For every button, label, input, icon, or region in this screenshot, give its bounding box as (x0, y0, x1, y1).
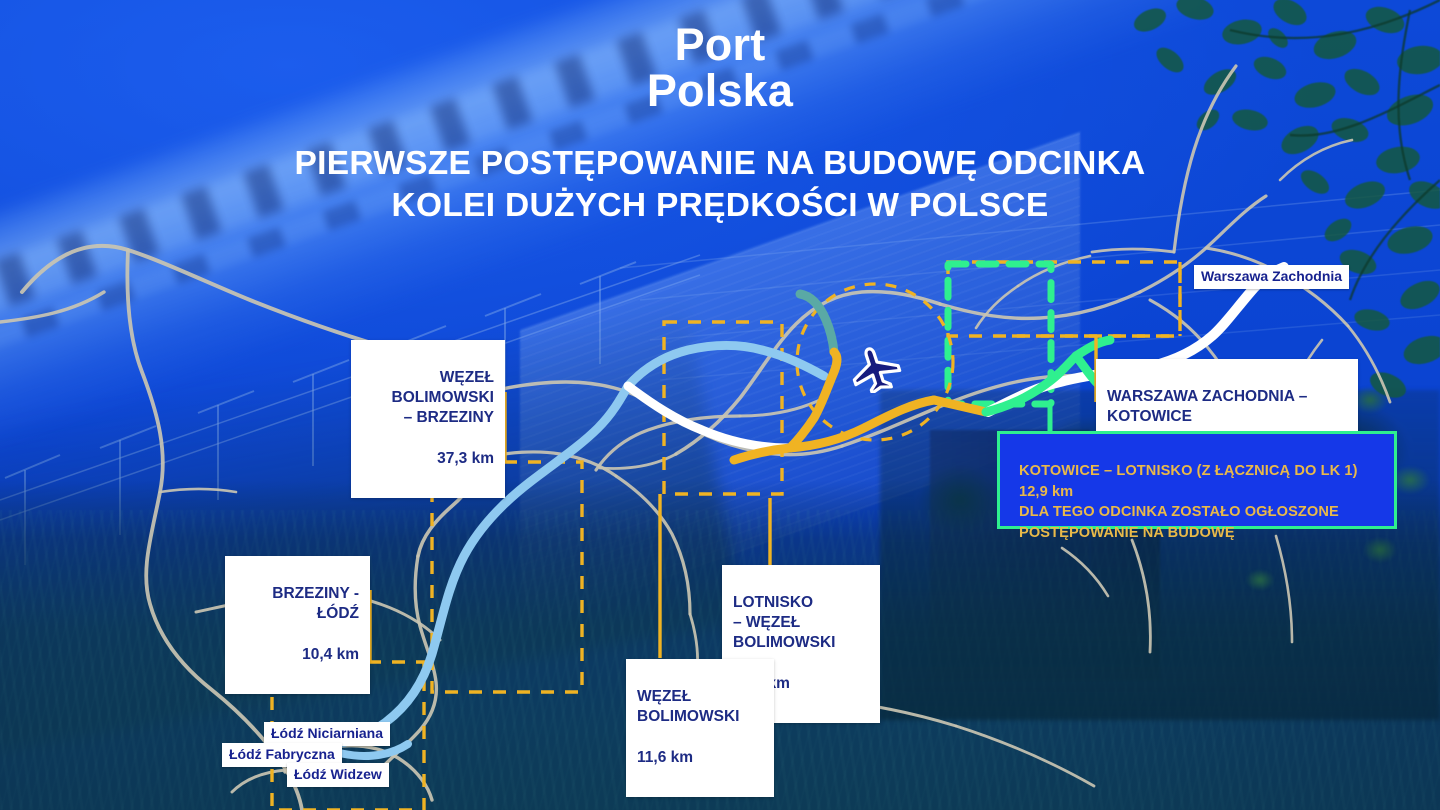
highlight-text: KOTOWICE – LOTNISKO (Z ŁĄCZNICĄ DO LK 1)… (1019, 461, 1382, 544)
callout-title: WARSZAWA ZACHODNIA – KOTOWICE (1107, 387, 1347, 427)
callout-distance: 37,3 km (362, 449, 494, 469)
brand-line-1: Port (0, 22, 1440, 68)
callout-title: WĘZEŁ BOLIMOWSKI – BRZEZINY (362, 368, 494, 428)
callout-brzeziny-lodz: BRZEZINY - ŁÓDŹ 10,4 km (225, 556, 370, 694)
callout-distance: 10,4 km (236, 645, 359, 665)
callout-distance: 11,6 km (637, 748, 763, 768)
highlight-box-kotowice-lotnisko: KOTOWICE – LOTNISKO (Z ŁĄCZNICĄ DO LK 1)… (997, 431, 1397, 529)
station-name: Łódź Niciarniana (271, 725, 383, 741)
callout-title: WĘZEŁ BOLIMOWSKI (637, 687, 763, 727)
route-teal-link (800, 294, 834, 352)
infographic-slide: Port Polska PIERWSZE POSTĘPOWANIE NA BUD… (0, 0, 1440, 810)
airplane-icon (846, 345, 904, 393)
subtitle-line-2: KOLEI DUŻYCH PRĘDKOŚCI W POLSCE (0, 185, 1440, 227)
callout-wezel-bolimowski: WĘZEŁ BOLIMOWSKI 11,6 km (626, 659, 774, 797)
callout-title: LOTNISKO – WĘZEŁ BOLIMOWSKI (733, 593, 869, 653)
station-name: Warszawa Zachodnia (1201, 268, 1342, 284)
page-subtitle: PIERWSZE POSTĘPOWANIE NA BUDOWĘ ODCINKA … (0, 143, 1440, 227)
station-name: Łódź Fabryczna (229, 746, 335, 762)
brand-title: Port Polska (0, 22, 1440, 115)
station-name: Łódź Widzew (294, 766, 382, 782)
station-label-lodz-widzew: Łódź Widzew (287, 763, 389, 787)
subtitle-line-1: PIERWSZE POSTĘPOWANIE NA BUDOWĘ ODCINKA (0, 143, 1440, 185)
callout-wezel-bolimowski-brzeziny: WĘZEŁ BOLIMOWSKI – BRZEZINY 37,3 km (351, 340, 505, 498)
callout-title: BRZEZINY - ŁÓDŹ (236, 584, 359, 624)
route-green-north (1076, 340, 1110, 356)
brand-line-2: Polska (0, 68, 1440, 114)
station-label-warszawa-zachodnia: Warszawa Zachodnia (1194, 265, 1349, 289)
